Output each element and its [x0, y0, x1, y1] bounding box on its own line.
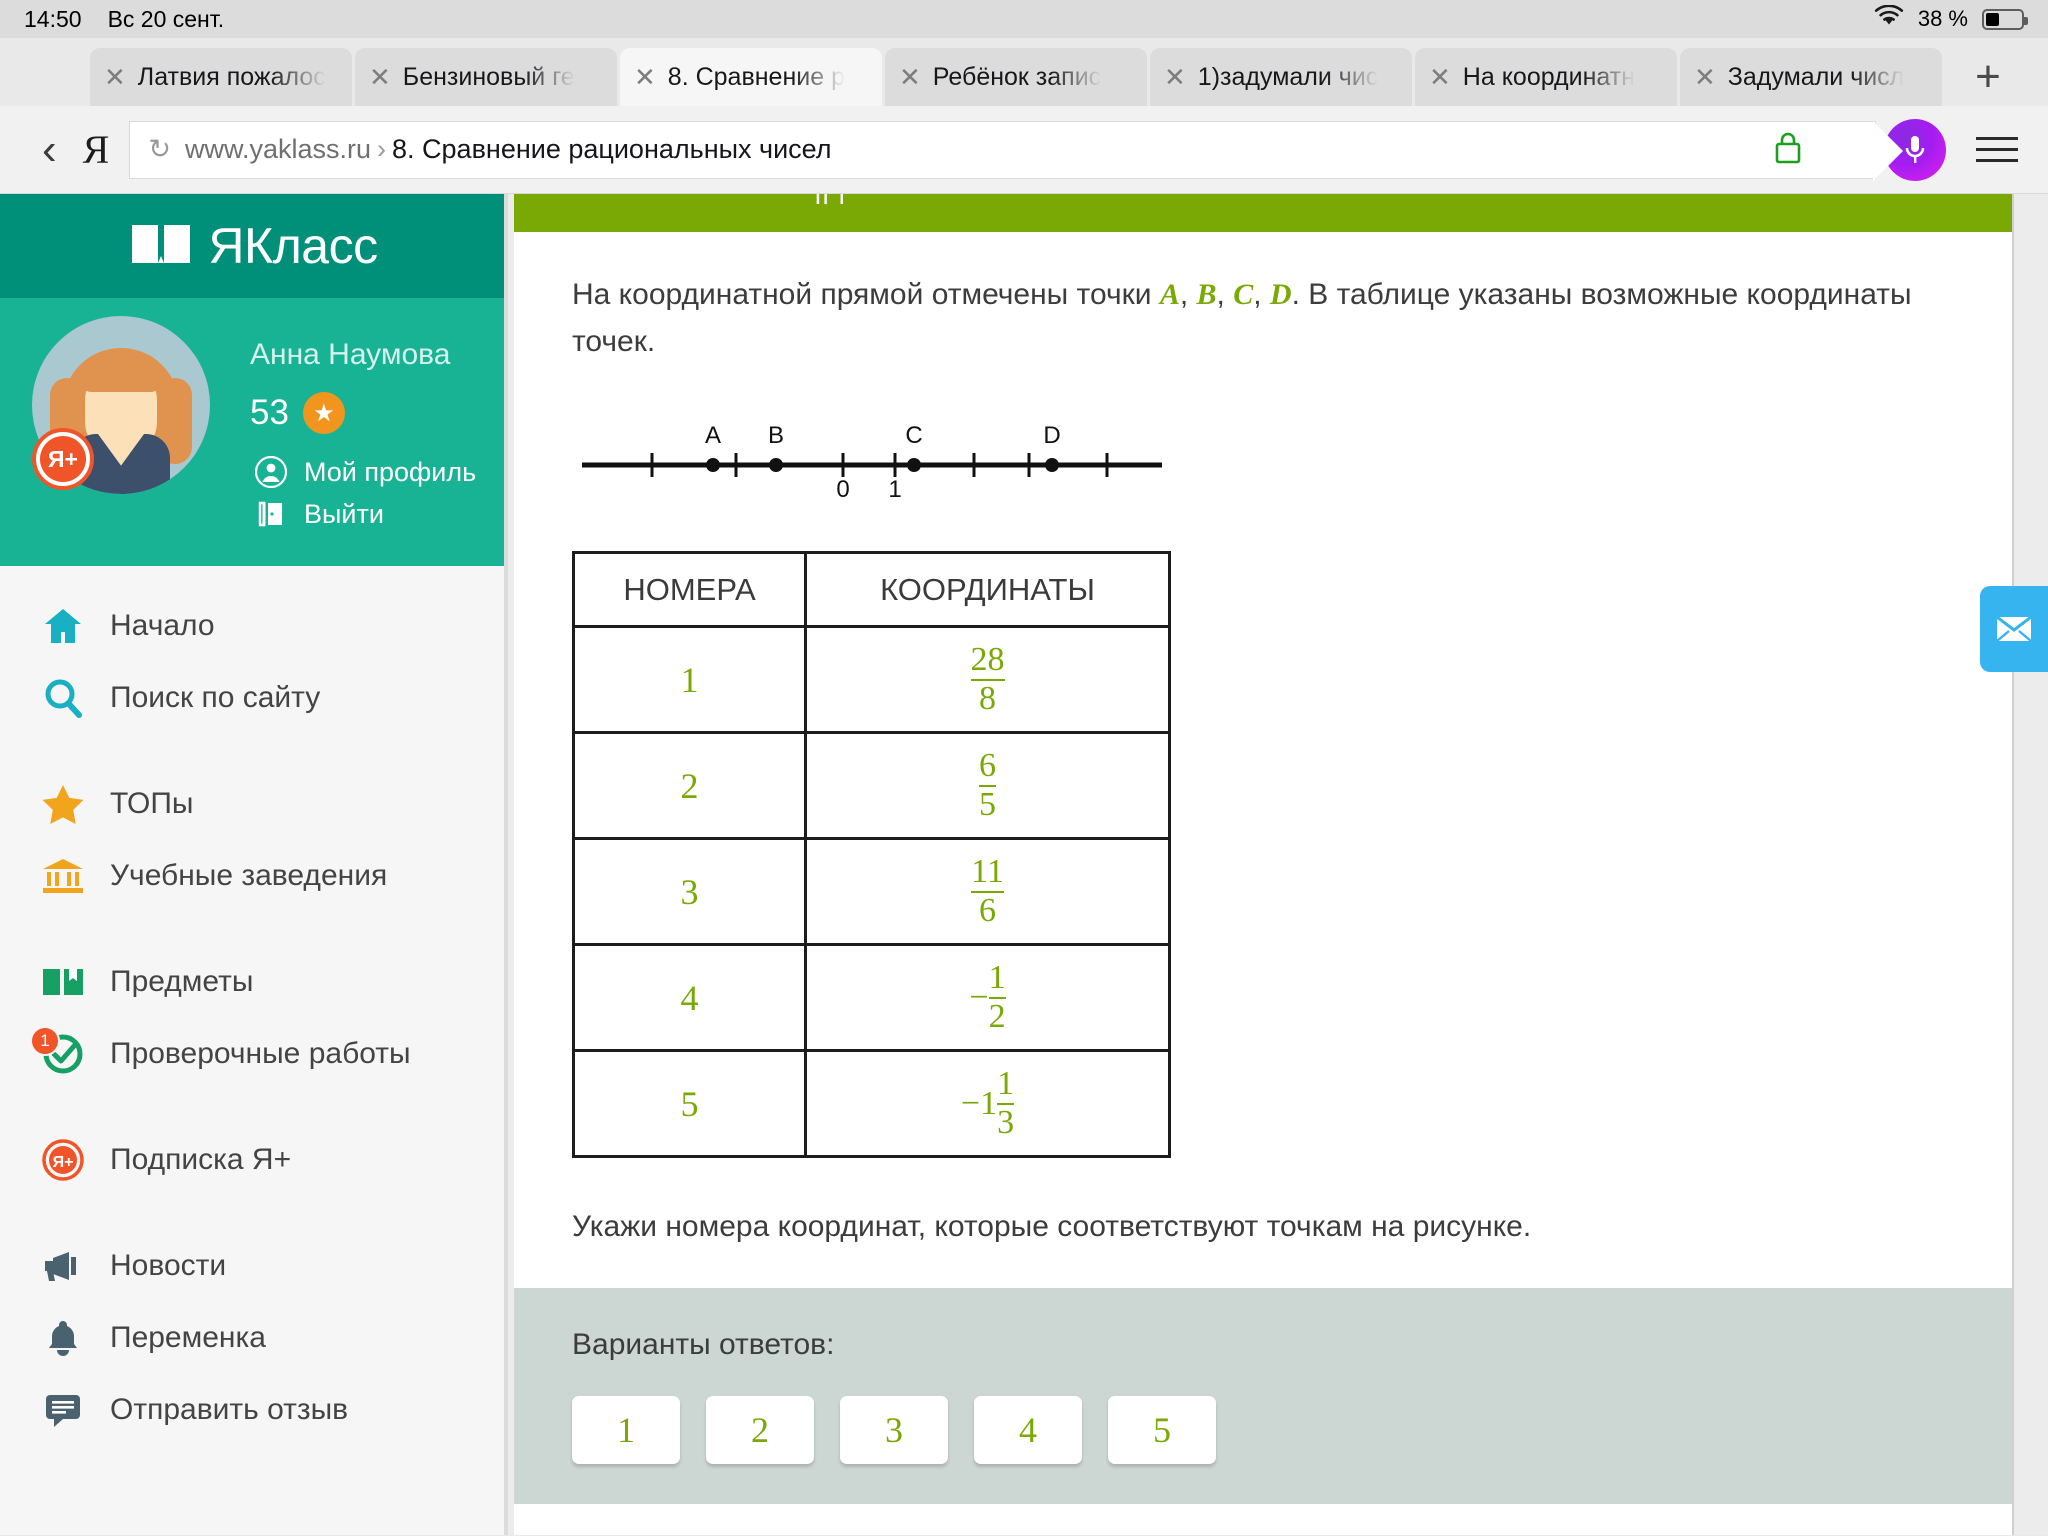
svg-text:Я+: Я+	[53, 1154, 74, 1171]
point-label-a: A	[1160, 278, 1180, 311]
my-profile-link[interactable]: Мой профиль	[250, 456, 476, 488]
question-text: На координатной прямой отмечены точки A,…	[572, 272, 1954, 365]
url-domain: www.yaklass.ru	[185, 134, 371, 165]
microphone-icon	[1900, 132, 1930, 168]
home-icon	[34, 606, 92, 646]
tab-title: Ребёнок запис	[933, 63, 1101, 92]
close-icon[interactable]: ✕	[1694, 64, 1716, 90]
tab-title: На координатн	[1463, 63, 1635, 92]
status-bar: 14:50 Вс 20 сент. 38 %	[0, 0, 2048, 38]
fraction: 28 8	[971, 642, 1005, 717]
lock-icon[interactable]	[1771, 128, 1805, 171]
mixed-whole-part: −1	[961, 1085, 997, 1123]
mixed-number: −1 1 3	[961, 1066, 1014, 1141]
my-profile-label: Мой профиль	[304, 457, 476, 488]
fraction: 1 3	[997, 1066, 1014, 1141]
answer-option[interactable]: 5	[1108, 1396, 1216, 1464]
tests-badge: 1	[30, 1026, 60, 1056]
browser-tab[interactable]: ✕ Латвия пожалос	[90, 48, 352, 106]
table-row: 5 −1 1 3	[574, 1051, 1170, 1157]
fraction-denominator: 6	[971, 891, 1004, 930]
row-number: 1	[574, 627, 806, 733]
tab-title: Бензиновый ге	[403, 63, 575, 92]
sidebar-item-break[interactable]: Переменка	[0, 1302, 508, 1374]
browser-tab-active[interactable]: ✕ 8. Сравнение р	[620, 48, 882, 106]
sidebar-item-label: Переменка	[110, 1321, 266, 1355]
page-body: ЯКласс Я+ Анна Наумова 53	[0, 194, 2048, 1535]
row-number: 4	[574, 945, 806, 1051]
answer-option[interactable]: 1	[572, 1396, 680, 1464]
close-icon[interactable]: ✕	[634, 64, 656, 90]
exercise-header-cut-text: || |	[814, 194, 846, 206]
row-number: 2	[574, 733, 806, 839]
svg-text:D: D	[1043, 422, 1060, 449]
speech-bubble-icon	[34, 1391, 92, 1429]
battery-icon	[1982, 9, 2024, 30]
new-tab-button[interactable]: +	[1945, 48, 2031, 106]
svg-text:A: A	[705, 422, 721, 449]
url-separator: ›	[377, 134, 386, 165]
fraction-numerator: 11	[971, 854, 1004, 891]
bank-icon	[34, 856, 92, 896]
sidebar-item-label: Проверочные работы	[110, 1037, 411, 1071]
wifi-icon	[1874, 5, 1904, 33]
avatar[interactable]: Я+	[32, 316, 226, 494]
browser-tab[interactable]: ✕ Бензиновый ге	[355, 48, 617, 106]
sidebar-item-label: Отправить отзыв	[110, 1393, 348, 1427]
sidebar-item-label: Начало	[110, 609, 215, 643]
search-icon	[34, 677, 92, 719]
tab-title: 8. Сравнение р	[668, 63, 845, 92]
answer-option[interactable]: 4	[974, 1396, 1082, 1464]
coordinates-table: НОМЕРА КООРДИНАТЫ 1 28 8 2	[572, 551, 1171, 1158]
table-row: 2 6 5	[574, 733, 1170, 839]
row-coordinate: 6 5	[806, 733, 1170, 839]
table-row: 4 − 1 2	[574, 945, 1170, 1051]
reload-icon[interactable]: ↻	[148, 134, 171, 165]
main-content: || | На координатной прямой отмечены точ…	[508, 194, 2048, 1535]
user-score: 53 ★	[250, 392, 476, 434]
sidebar-item-search[interactable]: Поиск по сайту	[0, 662, 508, 734]
fraction-denominator: 3	[997, 1103, 1014, 1142]
sidebar-item-subjects[interactable]: Предметы	[0, 946, 508, 1018]
sidebar-item-home[interactable]: Начало	[0, 590, 508, 662]
status-time: 14:50	[24, 6, 82, 33]
fraction: 1 2	[989, 960, 1006, 1035]
browser-menu-button[interactable]	[1976, 137, 2018, 162]
logout-label: Выйти	[304, 499, 384, 530]
table-row: 1 28 8	[574, 627, 1170, 733]
close-icon[interactable]: ✕	[1164, 64, 1186, 90]
svg-text:B: B	[768, 422, 784, 449]
fraction: 11 6	[971, 854, 1004, 929]
ya-plus-icon: Я+	[34, 1138, 92, 1182]
browser-tab[interactable]: ✕ Задумали числ	[1680, 48, 1942, 106]
fraction-denominator: 8	[971, 679, 1005, 718]
answer-options-label: Варианты ответов:	[572, 1328, 1954, 1362]
score-value: 53	[250, 393, 289, 433]
answer-options-panel: Варианты ответов: 1 2 3 4 5	[514, 1288, 2012, 1504]
svg-text:1: 1	[888, 476, 901, 499]
back-button[interactable]: ‹	[22, 125, 77, 175]
fraction: 6 5	[979, 748, 996, 823]
user-profile-panel: Я+ Анна Наумова 53 ★ Мой профиль	[0, 298, 508, 566]
books-icon	[34, 963, 92, 1001]
row-coordinate: −1 1 3	[806, 1051, 1170, 1157]
exit-door-icon	[250, 498, 292, 530]
page-scrollbar[interactable]	[2012, 194, 2048, 1535]
browser-tab[interactable]: ✕ Ребёнок запис	[885, 48, 1147, 106]
fraction-sign: −	[969, 979, 988, 1017]
yandex-logo-icon[interactable]: Я	[77, 126, 130, 173]
sidebar-item-feedback[interactable]: Отправить отзыв	[0, 1374, 508, 1446]
row-coordinate: 11 6	[806, 839, 1170, 945]
fraction-numerator: 28	[971, 642, 1005, 679]
row-coordinate: 28 8	[806, 627, 1170, 733]
url-input[interactable]: ↻ www.yaklass.ru › 8. Сравнение рационал…	[129, 121, 1876, 179]
exercise-prompt: Укажи номера координат, которые соответс…	[572, 1210, 1954, 1244]
row-coordinate: − 1 2	[806, 945, 1170, 1051]
point-label-d: D	[1270, 278, 1292, 311]
open-book-icon	[130, 221, 192, 272]
exercise-header-bar: || |	[514, 194, 2012, 232]
fraction-numerator: 6	[979, 748, 996, 785]
number-line-figure: A B C D 0 1	[582, 409, 1162, 499]
site-logo[interactable]: ЯКласс	[0, 194, 508, 298]
row-number: 5	[574, 1051, 806, 1157]
exercise-body: На координатной прямой отмечены точки A,…	[514, 232, 2012, 1244]
user-name: Анна Наумова	[250, 338, 476, 372]
address-bar: ‹ Я ↻ www.yaklass.ru › 8. Сравнение раци…	[0, 106, 2048, 194]
column-header-coordinate: КООРДИНАТЫ	[806, 553, 1170, 627]
close-icon[interactable]: ✕	[369, 64, 391, 90]
fraction-numerator: 1	[997, 1066, 1014, 1103]
sidebar-item-label: ТОПы	[110, 787, 193, 821]
table-row: 3 11 6	[574, 839, 1170, 945]
battery-percent: 38 %	[1918, 6, 1968, 32]
envelope-icon	[1996, 616, 2032, 642]
browser-tab[interactable]: ✕ На координатн	[1415, 48, 1677, 106]
question-text-part1: На координатной прямой отмечены точки	[572, 278, 1160, 311]
sidebar: ЯКласс Я+ Анна Наумова 53	[0, 194, 508, 1535]
sidebar-item-subscription[interactable]: Я+ Подписка Я+	[0, 1124, 508, 1196]
star-badge-icon: ★	[303, 392, 345, 434]
close-icon[interactable]: ✕	[1429, 64, 1451, 90]
sidebar-item-label: Предметы	[110, 965, 253, 999]
tab-title: Латвия пожалос	[138, 63, 326, 92]
tab-title: Задумали числ	[1728, 63, 1904, 92]
sidebar-item-label: Поиск по сайту	[110, 681, 320, 715]
sidebar-item-label: Учебные заведения	[110, 859, 387, 893]
fraction-denominator: 5	[979, 785, 996, 824]
status-date: Вс 20 сент.	[108, 6, 225, 33]
sidebar-item-institutions[interactable]: Учебные заведения	[0, 840, 508, 912]
answer-option[interactable]: 3	[840, 1396, 948, 1464]
ya-plus-icon: Я+	[32, 428, 94, 490]
sidebar-item-news[interactable]: Новости	[0, 1230, 508, 1302]
close-icon[interactable]: ✕	[104, 64, 126, 90]
fraction-numerator: 1	[989, 960, 1006, 997]
user-circle-icon	[250, 456, 292, 488]
bell-icon	[34, 1318, 92, 1358]
browser-tab[interactable]: ✕ 1)задумали чис	[1150, 48, 1412, 106]
sidebar-menu: Начало Поиск по сайту ТОПы Учебные завед	[0, 566, 508, 1446]
svg-text:0: 0	[836, 476, 849, 499]
answer-options-row: 1 2 3 4 5	[572, 1396, 1954, 1464]
url-page-title: 8. Сравнение рациональных чисел	[392, 134, 832, 165]
star-icon	[34, 783, 92, 825]
sidebar-item-tops[interactable]: ТОПы	[0, 768, 508, 840]
ya-plus-badge-label: Я+	[40, 436, 86, 482]
megaphone-icon	[34, 1249, 92, 1283]
point-label-c: C	[1233, 278, 1253, 311]
brand-name: ЯКласс	[208, 217, 377, 275]
signed-fraction: − 1 2	[969, 960, 1005, 1035]
point-label-b: B	[1197, 278, 1217, 311]
logout-link[interactable]: Выйти	[250, 498, 476, 530]
exercise-card: || | На координатной прямой отмечены точ…	[514, 194, 2012, 1535]
browser-tab-bar: ✕ Латвия пожалос ✕ Бензиновый ге ✕ 8. Ср…	[0, 38, 2048, 106]
feedback-mail-tab[interactable]	[1980, 586, 2048, 672]
table-header-row: НОМЕРА КООРДИНАТЫ	[574, 553, 1170, 627]
sidebar-item-label: Новости	[110, 1249, 226, 1283]
answer-option[interactable]: 2	[706, 1396, 814, 1464]
row-number: 3	[574, 839, 806, 945]
column-header-number: НОМЕРА	[574, 553, 806, 627]
sidebar-item-label: Подписка Я+	[110, 1143, 291, 1177]
svg-text:C: C	[905, 422, 922, 449]
close-icon[interactable]: ✕	[899, 64, 921, 90]
sidebar-item-tests[interactable]: 1 Проверочные работы	[0, 1018, 508, 1090]
tab-title: 1)задумали чис	[1198, 63, 1378, 92]
fraction-denominator: 2	[989, 997, 1006, 1036]
